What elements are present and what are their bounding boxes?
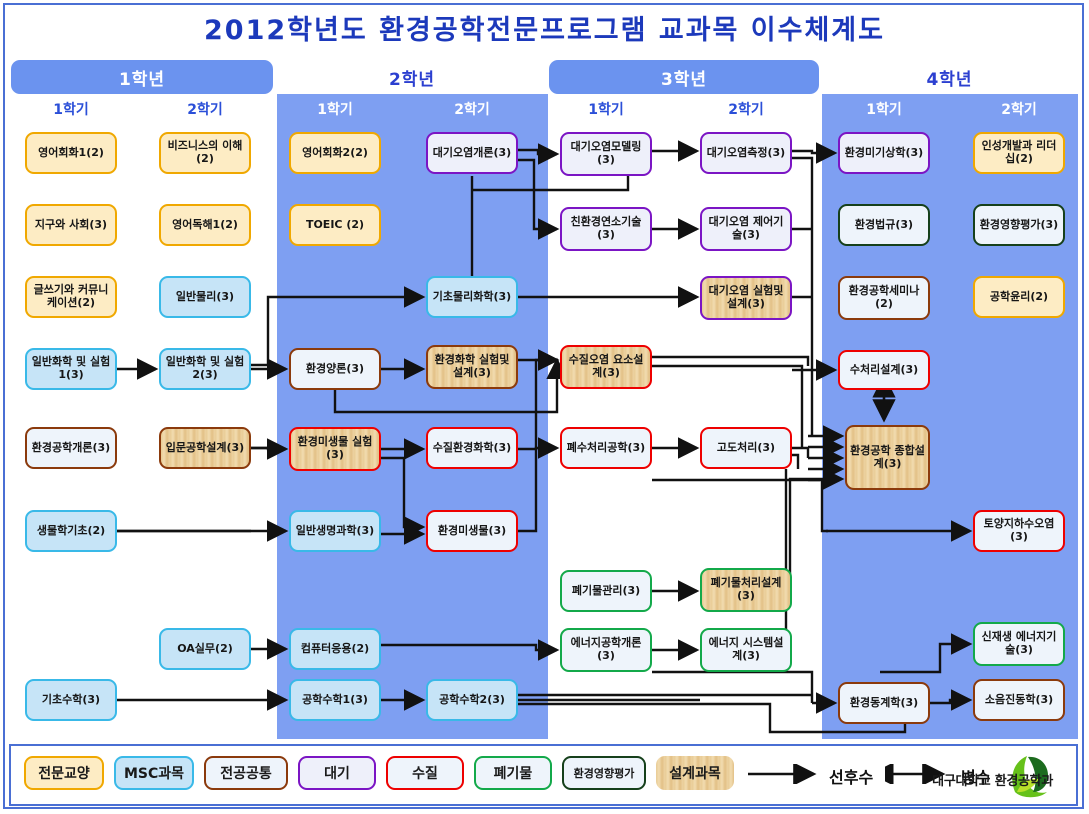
course-node[interactable]: 환경법규(3) xyxy=(838,204,930,246)
course-node[interactable]: 일반생명과학(3) xyxy=(289,510,381,552)
course-node[interactable]: 수처리설계(3) xyxy=(838,350,930,390)
course-node[interactable]: 일반화학 및 실험2(3) xyxy=(159,348,251,390)
legend-item[interactable]: 대기 xyxy=(298,756,376,790)
course-node[interactable]: 비즈니스의 이해(2) xyxy=(159,132,251,174)
course-node[interactable]: 공학수학2(3) xyxy=(426,679,518,721)
course-node[interactable]: 신재생 에너지기술(3) xyxy=(973,622,1065,666)
legend-prereq-label: 선후수 xyxy=(829,764,873,788)
year-header-2: 2학년 xyxy=(277,60,547,94)
legend-item[interactable]: 환경영향평가 xyxy=(562,756,646,790)
course-node[interactable]: 공학윤리(2) xyxy=(973,276,1065,318)
legend-item[interactable]: MSC과목 xyxy=(114,756,194,790)
course-node[interactable]: 입문공학설계(3) xyxy=(159,427,251,469)
diagram-root: 2012학년도 환경공학전문프로그램 교과목 이수체계도 1학년 2학년 3학년… xyxy=(0,0,1089,814)
semester-label-y1s1: 1학기 xyxy=(16,99,126,119)
course-node[interactable]: 환경공학세미나(2) xyxy=(838,276,930,320)
legend-item[interactable]: 설계과목 xyxy=(656,756,734,790)
course-node[interactable]: 환경영향평가(3) xyxy=(973,204,1065,246)
semester-label-y3s2: 2학기 xyxy=(691,99,801,119)
course-node[interactable]: 대기오염 제어기술(3) xyxy=(700,207,792,251)
semester-label-y1s2: 2학기 xyxy=(150,99,260,119)
course-node[interactable]: 환경미생물(3) xyxy=(426,510,518,552)
course-node[interactable]: OA실무(2) xyxy=(159,628,251,670)
course-node[interactable]: 환경동계학(3) xyxy=(838,682,930,724)
course-node[interactable]: 글쓰기와 커뮤니케이션(2) xyxy=(25,276,117,318)
legend-item[interactable]: 전공공통 xyxy=(204,756,288,790)
prereq-arrow-icon xyxy=(746,764,826,784)
course-node[interactable]: 수질환경화학(3) xyxy=(426,427,518,469)
course-node[interactable]: 수질오염 요소설계(3) xyxy=(560,345,652,389)
course-node[interactable]: 토양지하수오염(3) xyxy=(973,510,1065,552)
semester-label-y3s1: 1학기 xyxy=(551,99,661,119)
course-node[interactable]: 생물학기초(2) xyxy=(25,510,117,552)
course-node[interactable]: 친환경연소기술(3) xyxy=(560,207,652,251)
course-node[interactable]: 기초수학(3) xyxy=(25,679,117,721)
course-node[interactable]: 대기오염개론(3) xyxy=(426,132,518,174)
course-node[interactable]: 폐기물관리(3) xyxy=(560,570,652,612)
organization-label: 대구대학교 환경공학과 xyxy=(932,770,1053,789)
course-node[interactable]: 영어회화1(2) xyxy=(25,132,117,174)
course-node[interactable]: 대기오염모델링(3) xyxy=(560,132,652,176)
course-node[interactable]: 소음진동학(3) xyxy=(973,679,1065,721)
semester-label-y4s1: 1학기 xyxy=(829,99,939,119)
year-header-3: 3학년 xyxy=(549,60,819,94)
course-node[interactable]: 대기오염측정(3) xyxy=(700,132,792,174)
course-node[interactable]: 환경공학 종합설계(3) xyxy=(845,425,930,490)
course-node[interactable]: 환경미생물 실험(3) xyxy=(289,427,381,471)
course-node[interactable]: 환경공학개론(3) xyxy=(25,427,117,469)
legend-item[interactable]: 전문교양 xyxy=(24,756,104,790)
course-node[interactable]: 지구와 사회(3) xyxy=(25,204,117,246)
course-node[interactable]: 기초물리화학(3) xyxy=(426,276,518,318)
legend: 전문교양MSC과목전공공통대기수질폐기물환경영향평가설계과목 선후수 병수 대구… xyxy=(9,744,1078,806)
legend-item[interactable]: 수질 xyxy=(386,756,464,790)
course-node[interactable]: 폐기물처리설계(3) xyxy=(700,568,792,612)
year-header-1: 1학년 xyxy=(11,60,273,94)
course-node[interactable]: 환경미기상학(3) xyxy=(838,132,930,174)
course-node[interactable]: 에너지공학개론(3) xyxy=(560,628,652,672)
course-node[interactable]: 영어독해1(2) xyxy=(159,204,251,246)
course-node[interactable]: 대기오염 실험및설계(3) xyxy=(700,276,792,320)
course-node[interactable]: 공학수학1(3) xyxy=(289,679,381,721)
course-node[interactable]: 일반물리(3) xyxy=(159,276,251,318)
course-node[interactable]: 환경화학 실험및설계(3) xyxy=(426,345,518,389)
course-node[interactable]: 컴퓨터응용(2) xyxy=(289,628,381,670)
course-node[interactable]: 폐수처리공학(3) xyxy=(560,427,652,469)
course-node[interactable]: 일반화학 및 실험1(3) xyxy=(25,348,117,390)
year-header-4: 4학년 xyxy=(821,60,1078,94)
course-node[interactable]: 에너지 시스템설계(3) xyxy=(700,628,792,672)
course-node[interactable]: 영어회화2(2) xyxy=(289,132,381,174)
semester-label-y2s1: 1학기 xyxy=(280,99,390,119)
semester-label-y2s2: 2학기 xyxy=(417,99,527,119)
course-node[interactable]: 환경양론(3) xyxy=(289,348,381,390)
course-node[interactable]: TOEIC (2) xyxy=(289,204,381,246)
course-node[interactable]: 고도처리(3) xyxy=(700,427,792,469)
semester-label-y4s2: 2학기 xyxy=(964,99,1074,119)
legend-item[interactable]: 폐기물 xyxy=(474,756,552,790)
course-node[interactable]: 인성개발과 리더십(2) xyxy=(973,132,1065,174)
page-title: 2012학년도 환경공학전문프로그램 교과목 이수체계도 xyxy=(0,8,1089,47)
